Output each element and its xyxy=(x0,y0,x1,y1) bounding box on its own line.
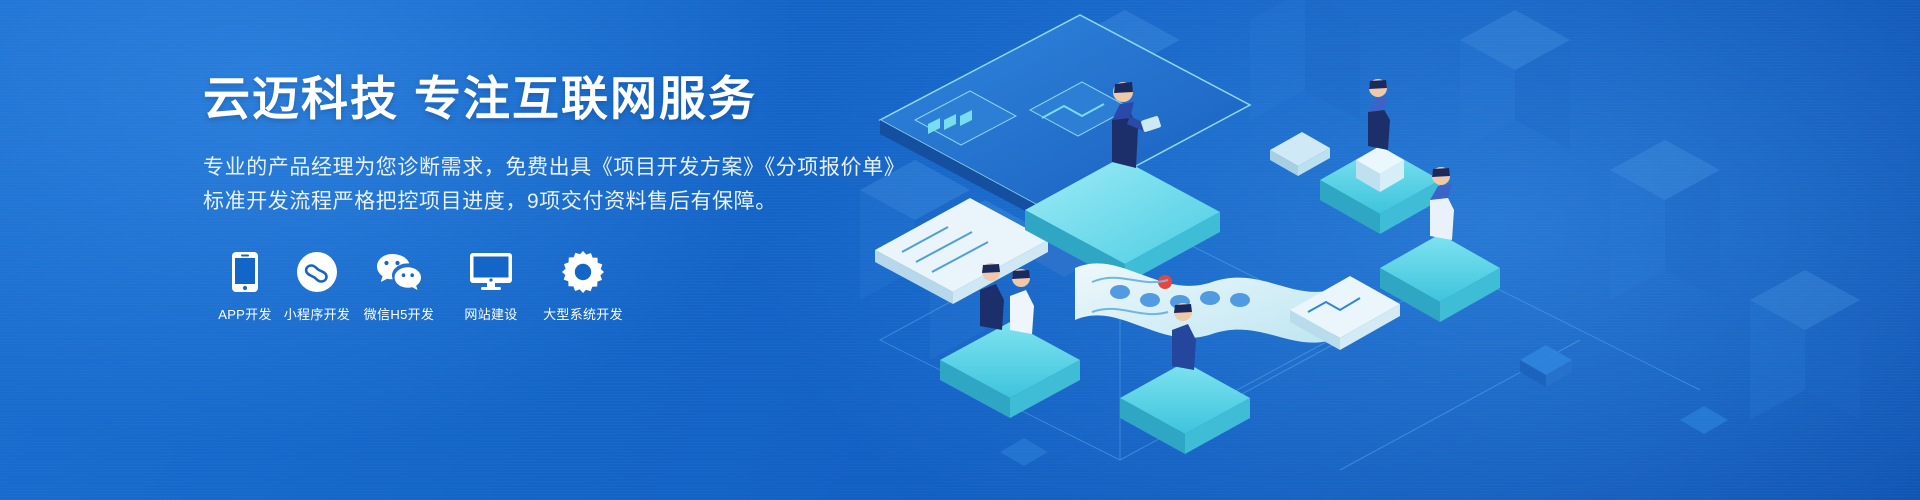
banner-content: 云迈科技 专注互联网服务 专业的产品经理为您诊断需求，免费出具《项目开发方案》《… xyxy=(0,0,960,500)
service-item-wechat-h5[interactable]: 微信H5开发 xyxy=(353,249,445,323)
subtitle-line-1: 专业的产品经理为您诊断需求，免费出具《项目开发方案》《分项报价单》 xyxy=(203,151,960,185)
floating-diamonds xyxy=(1000,345,1728,466)
person-right-lower xyxy=(1430,167,1454,240)
wechat-icon xyxy=(376,249,422,295)
service-label: 网站建设 xyxy=(464,304,517,323)
service-label: APP开发 xyxy=(218,304,272,323)
monitor-icon xyxy=(470,249,512,295)
data-scroll xyxy=(1075,263,1332,342)
pedestal-bottom-right xyxy=(1120,362,1250,454)
mobile-phone-icon xyxy=(232,249,258,295)
service-list: APP开发 小程序开发 xyxy=(209,249,960,323)
page-title: 云迈科技 专注互联网服务 xyxy=(203,72,960,127)
subtitle-block: 专业的产品经理为您诊断需求，免费出具《项目开发方案》《分项报价单》 标准开发流程… xyxy=(203,151,960,219)
service-label: 小程序开发 xyxy=(284,304,351,323)
hero-banner: 云迈科技 专注互联网服务 专业的产品经理为您诊断需求，免费出具《项目开发方案》《… xyxy=(0,0,1920,500)
service-label: 微信H5开发 xyxy=(364,304,434,323)
service-item-large-system[interactable]: 大型系统开发 xyxy=(537,249,629,323)
isometric-illustration xyxy=(820,0,1920,500)
floating-tag xyxy=(1270,132,1330,176)
service-item-app[interactable]: APP开发 xyxy=(209,249,281,323)
mini-program-icon xyxy=(297,249,337,295)
gear-icon xyxy=(562,249,604,295)
service-item-website[interactable]: 网站建设 xyxy=(445,249,537,323)
service-label: 大型系统开发 xyxy=(543,304,623,323)
subtitle-line-2: 标准开发流程严格把控项目进度，9项交付资料售后有保障。 xyxy=(203,185,960,219)
person-right-upper xyxy=(1368,79,1390,150)
service-item-mini-program[interactable]: 小程序开发 xyxy=(281,249,353,323)
